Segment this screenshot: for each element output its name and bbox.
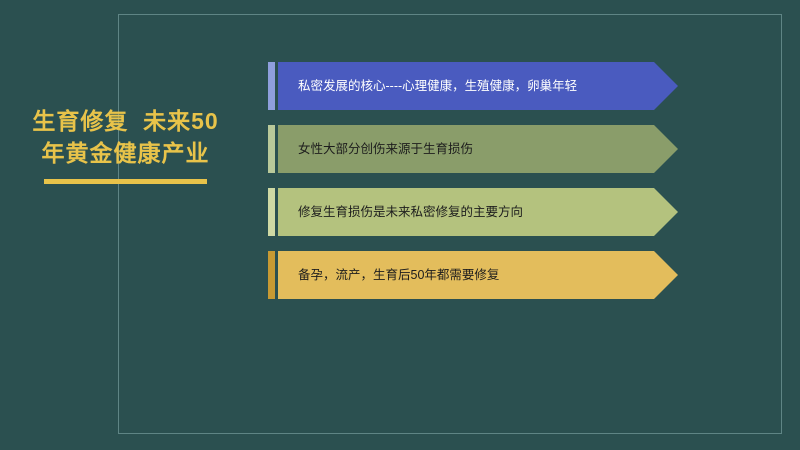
arrow-accent-bar-2 xyxy=(268,125,275,173)
arrow-item-4: 备孕，流产，生育后50年都需要修复 xyxy=(268,251,678,299)
slide-canvas: 生育修复 未来50年黄金健康产业 私密发展的核心----心理健康，生殖健康，卵巢… xyxy=(0,0,800,450)
arrow-item-2: 女性大部分创伤来源于生育损伤 xyxy=(268,125,678,173)
title-block: 生育修复 未来50年黄金健康产业 xyxy=(28,105,223,184)
arrow-accent-bar-3 xyxy=(268,188,275,236)
arrow-body-1: 私密发展的核心----心理健康，生殖健康，卵巢年轻 xyxy=(278,62,678,110)
arrow-label-4: 备孕，流产，生育后50年都需要修复 xyxy=(278,266,499,284)
title-underline xyxy=(44,179,207,184)
arrow-item-3: 修复生育损伤是未来私密修复的主要方向 xyxy=(268,188,678,236)
arrow-accent-bar-4 xyxy=(268,251,275,299)
arrow-body-3: 修复生育损伤是未来私密修复的主要方向 xyxy=(278,188,678,236)
arrow-accent-bar-1 xyxy=(268,62,275,110)
arrow-label-3: 修复生育损伤是未来私密修复的主要方向 xyxy=(278,203,523,221)
arrow-label-1: 私密发展的核心----心理健康，生殖健康，卵巢年轻 xyxy=(278,77,577,95)
arrow-item-1: 私密发展的核心----心理健康，生殖健康，卵巢年轻 xyxy=(268,62,678,110)
arrow-label-2: 女性大部分创伤来源于生育损伤 xyxy=(278,140,473,158)
arrow-body-2: 女性大部分创伤来源于生育损伤 xyxy=(278,125,678,173)
arrow-body-4: 备孕，流产，生育后50年都需要修复 xyxy=(278,251,678,299)
page-title: 生育修复 未来50年黄金健康产业 xyxy=(28,105,223,169)
